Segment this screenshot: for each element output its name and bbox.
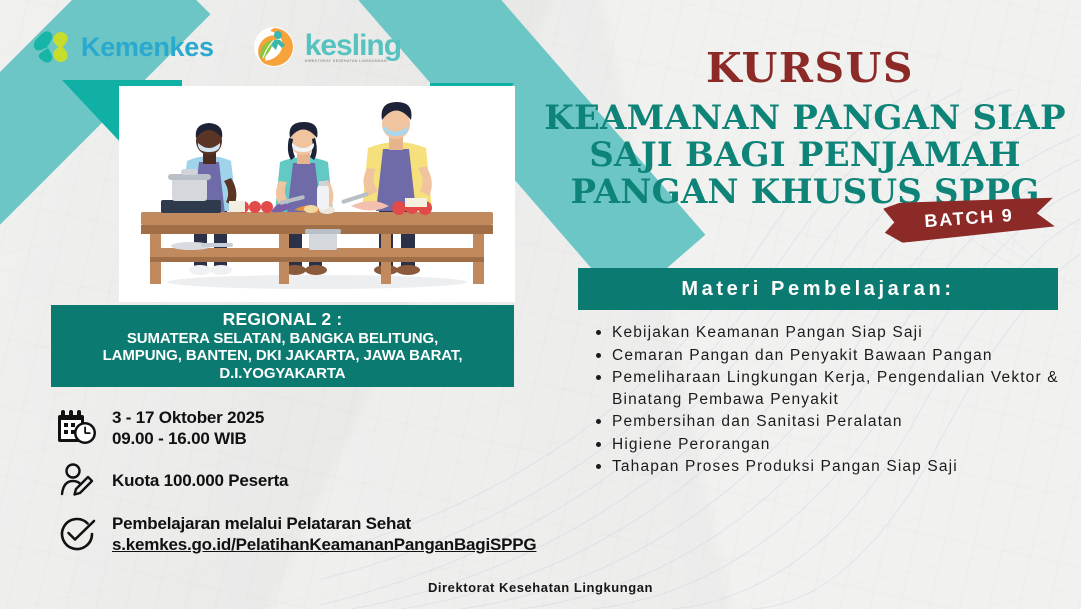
kesling-wordmark: kesling [305,32,401,59]
quota-value: Kuota 100.000 Peserta [112,471,288,490]
info-row-quota: Kuota 100.000 Peserta [55,459,555,503]
materi-heading: Materi Pembelajaran: [578,268,1058,310]
check-circle-icon [55,512,99,556]
list-item: Pemeliharaan Lingkungan Kerja, Pengendal… [612,367,1081,410]
kesling-leaf-person-icon [252,26,296,68]
info-row-schedule: 3 - 17 Oktober 2025 09.00 - 16.00 WIB [55,406,555,450]
schedule-dates: 3 - 17 Oktober 2025 [112,408,264,427]
regional-areas: SUMATERA SELATAN, BANGKA BELITUNG, LAMPU… [97,330,469,383]
list-item: Higiene Perorangan [612,434,1081,456]
regional-box: REGIONAL 2 : SUMATERA SELATAN, BANGKA BE… [51,305,514,387]
info-row-platform: Pembelajaran melalui Pelataran Sehat s.k… [55,512,555,556]
logo-row: Kemenkes kesling DIREKTORAT KESEHATAN LI… [30,26,401,68]
regional-title: REGIONAL 2 : [223,309,343,330]
title-line-2: SAJI BAGI PENJAMAH [540,137,1070,174]
illustration-card [119,86,515,302]
info-text-platform: Pembelajaran melalui Pelataran Sehat s.k… [112,513,536,556]
list-item: Cemaran Pangan dan Penyakit Bawaan Panga… [612,345,1081,367]
registration-link[interactable]: s.kemkes.go.id/PelatihanKeamananPanganBa… [112,534,536,555]
regional-area-line: SUMATERA SELATAN, BANGKA BELITUNG, [103,330,463,348]
info-block: 3 - 17 Oktober 2025 09.00 - 16.00 WIB Ku… [55,406,555,565]
poster-canvas: Kemenkes kesling DIREKTORAT KESEHATAN LI… [0,0,1081,609]
person-register-icon [55,459,99,503]
materi-list: Kebijakan Keamanan Pangan Siap Saji Cema… [588,322,1081,479]
kemenkes-logo: Kemenkes [30,27,214,67]
regional-area-line: LAMPUNG, BANTEN, DKI JAKARTA, JAWA BARAT… [103,347,463,365]
list-item: Pembersihan dan Sanitasi Peralatan [612,411,1081,433]
kursus-label: KURSUS [560,44,1060,92]
regional-area-line: D.I.YOGYAKARTA [103,365,463,383]
kesling-text-group: kesling DIREKTORAT KESEHATAN LINGKUNGAN [305,32,401,63]
info-text-schedule: 3 - 17 Oktober 2025 09.00 - 16.00 WIB [112,407,264,450]
kemenkes-clover-icon [30,27,72,67]
list-item: Tahapan Proses Produksi Pangan Siap Saji [612,456,1081,478]
info-text-quota: Kuota 100.000 Peserta [112,470,288,491]
title-line-1: KEAMANAN PANGAN SIAP [540,100,1070,137]
kesling-subtitle: DIREKTORAT KESEHATAN LINGKUNGAN [305,59,401,63]
page-title: KEAMANAN PANGAN SIAP SAJI BAGI PENJAMAH … [540,100,1070,211]
three-cooks-at-prep-table-illustration [119,86,515,302]
calendar-clock-icon [55,406,99,450]
list-item: Kebijakan Keamanan Pangan Siap Saji [612,322,1081,344]
kemenkes-wordmark: Kemenkes [81,32,214,63]
kesling-logo: kesling DIREKTORAT KESEHATAN LINGKUNGAN [252,26,401,68]
schedule-hours: 09.00 - 16.00 WIB [112,428,264,449]
footer-text: Direktorat Kesehatan Lingkungan [0,580,1081,595]
platform-label: Pembelajaran melalui Pelataran Sehat [112,514,411,533]
